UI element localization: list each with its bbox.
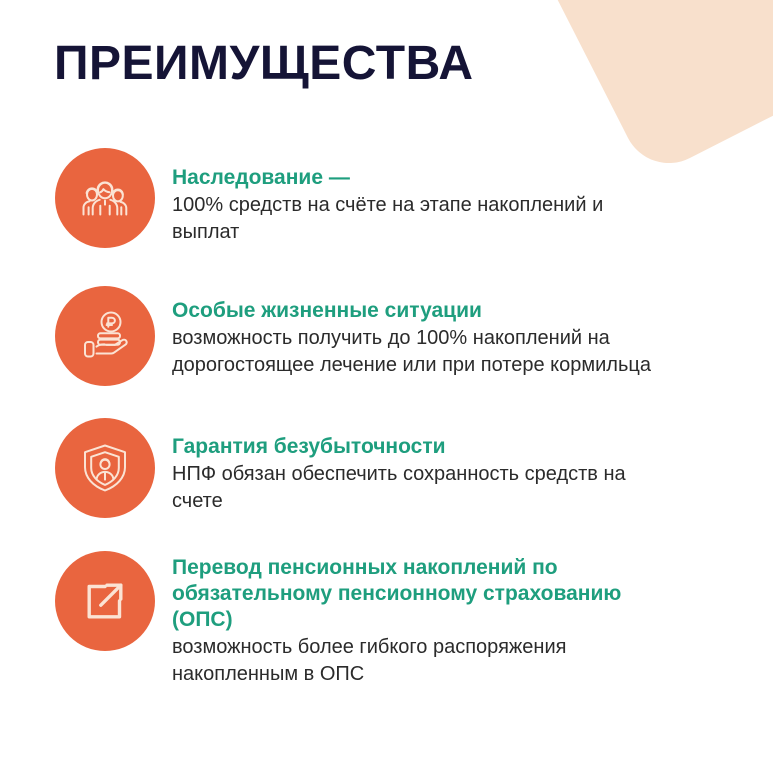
benefit-item-transfer: Перевод пенсионных накоплений по обязате… [0,551,773,688]
shield-person-icon [75,438,135,498]
benefit-icon-circle [55,551,155,651]
benefit-body: 100% средств на счёте на этапе накоплени… [172,192,655,246]
slide-canvas: ПРЕИМУЩЕСТВА [0,0,773,773]
benefits-list: Наследование — 100% средств на счёте на … [0,148,773,688]
benefit-text-block: Наследование — 100% средств на счёте на … [155,148,655,246]
benefit-body: возможность получить до 100% накоплений … [172,325,655,379]
benefit-heading: Гарантия безубыточности [172,434,655,460]
benefit-text-block: Гарантия безубыточности НПФ обязан обесп… [155,418,655,515]
benefit-heading: Перевод пенсионных накоплений по обязате… [172,555,655,633]
benefit-body: НПФ обязан обеспечить сохранность средст… [172,461,655,515]
benefit-heading: Особые жизненные ситуации [172,298,655,324]
export-arrow-icon [76,572,134,630]
benefit-item-inheritance: Наследование — 100% средств на счёте на … [0,148,773,248]
benefit-heading: Наследование — [172,165,655,191]
hand-with-coins-ruble-icon [74,305,136,367]
benefit-body: возможность более гибкого распоряжения н… [172,634,655,688]
benefit-text-block: Особые жизненные ситуации возможность по… [155,286,655,379]
benefit-icon-circle [55,418,155,518]
benefit-item-life-events: Особые жизненные ситуации возможность по… [0,286,773,386]
benefit-icon-circle [55,148,155,248]
page-title: ПРЕИМУЩЕСТВА [54,36,474,92]
family-group-icon [75,168,135,228]
benefit-icon-circle [55,286,155,386]
benefit-item-guarantee: Гарантия безубыточности НПФ обязан обесп… [0,418,773,518]
benefit-text-block: Перевод пенсионных накоплений по обязате… [155,551,655,688]
